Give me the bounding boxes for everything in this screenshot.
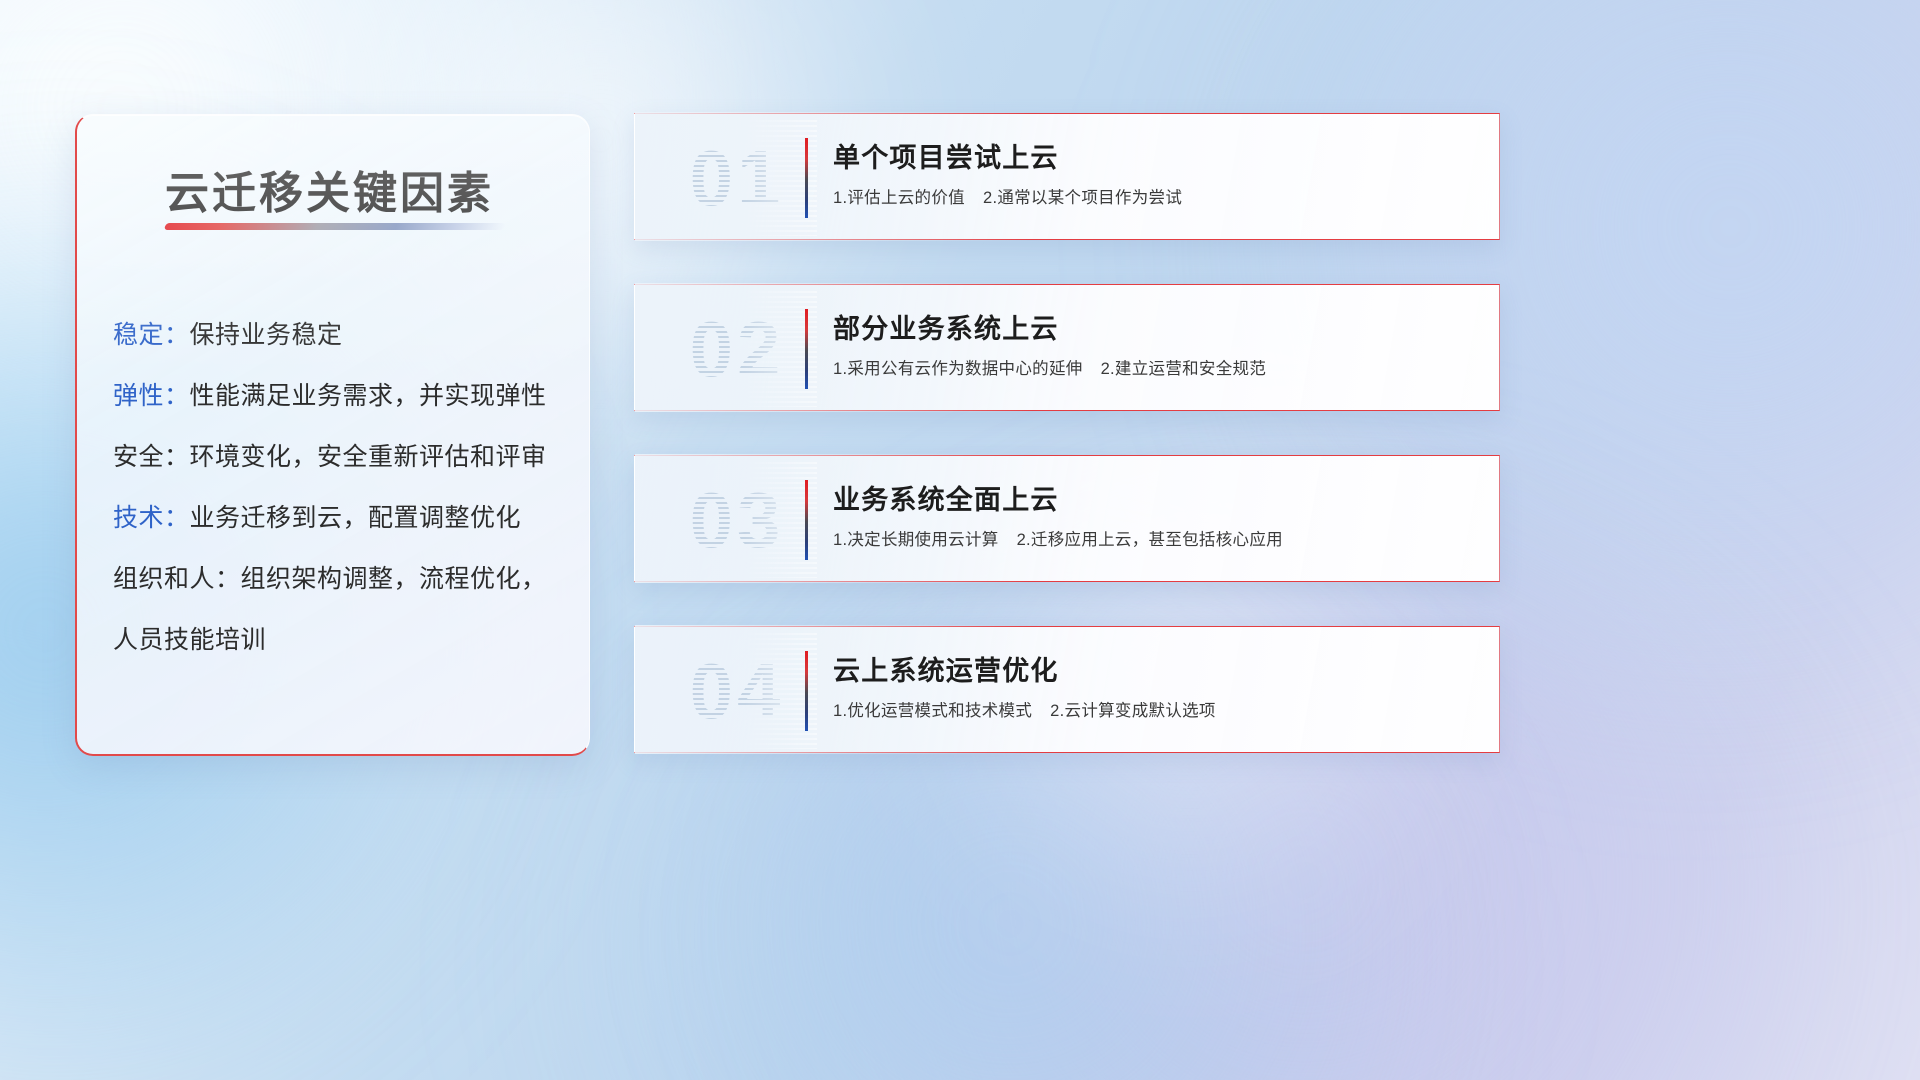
stage-number-ghost: 04 <box>657 633 817 749</box>
stage-title: 业务系统全面上云 <box>833 478 1475 517</box>
key-factors-panel: 云迁移关键因素 稳定：保持业务稳定弹性：性能满足业务需求，并实现弹性安全：环境变… <box>75 114 590 756</box>
title-underline-rule <box>164 223 506 230</box>
key-factor-text: 人员技能培训 <box>113 626 266 654</box>
key-factor-text: 保持业务稳定 <box>190 321 343 349</box>
stage-title: 部分业务系统上云 <box>833 307 1475 346</box>
stage-description: 1.决定长期使用云计算2.迁移应用上云，甚至包括核心应用 <box>833 526 1475 550</box>
key-factor-line: 组织和人：组织架构调整，流程优化， <box>113 549 563 610</box>
stage-description-part2: 2.云计算变成默认选项 <box>1050 702 1216 720</box>
stage-divider-bar <box>805 309 808 389</box>
stage-card[interactable]: 03业务系统全面上云1.决定长期使用云计算2.迁移应用上云，甚至包括核心应用 <box>634 455 1500 582</box>
cloud-migration-stages: 01单个项目尝试上云1.评估上云的价值2.通常以某个项目作为尝试02部分业务系统… <box>634 113 1500 753</box>
stage-body: 业务系统全面上云1.决定长期使用云计算2.迁移应用上云，甚至包括核心应用 <box>833 478 1475 550</box>
stage-body: 部分业务系统上云1.采用公有云作为数据中心的延伸2.建立运营和安全规范 <box>833 307 1475 379</box>
key-factor-line: 人员技能培训 <box>113 610 563 671</box>
stage-description-part1: 1.评估上云的价值 <box>833 189 965 207</box>
stage-number-ghost: 03 <box>657 462 817 578</box>
stage-card[interactable]: 01单个项目尝试上云1.评估上云的价值2.通常以某个项目作为尝试 <box>634 113 1500 240</box>
stage-divider-bar <box>805 480 808 560</box>
stage-card[interactable]: 04云上系统运营优化1.优化运营模式和技术模式2.云计算变成默认选项 <box>634 626 1500 753</box>
key-factor-line: 技术：业务迁移到云，配置调整优化 <box>113 488 563 549</box>
key-factor-label: 稳定： <box>113 321 190 349</box>
stage-title: 单个项目尝试上云 <box>833 136 1475 175</box>
slide-stage: 云迁移关键因素 稳定：保持业务稳定弹性：性能满足业务需求，并实现弹性安全：环境变… <box>0 0 1920 1080</box>
key-factor-label: 弹性： <box>113 382 190 410</box>
key-factor-text: 环境变化，安全重新评估和评审 <box>190 443 547 471</box>
key-factor-label: 安全： <box>113 443 190 471</box>
key-factor-line: 稳定：保持业务稳定 <box>113 305 563 366</box>
stage-description-part1: 1.决定长期使用云计算 <box>833 531 999 549</box>
stage-body: 云上系统运营优化1.优化运营模式和技术模式2.云计算变成默认选项 <box>833 649 1475 721</box>
key-factor-label: 技术： <box>113 504 190 532</box>
stage-divider-bar <box>805 138 808 218</box>
stage-body: 单个项目尝试上云1.评估上云的价值2.通常以某个项目作为尝试 <box>833 136 1475 208</box>
key-factor-line: 弹性：性能满足业务需求，并实现弹性 <box>113 366 563 427</box>
key-factor-text: 性能满足业务需求，并实现弹性 <box>190 382 547 410</box>
stage-description-part2: 2.建立运营和安全规范 <box>1101 360 1267 378</box>
key-factor-text: 业务迁移到云，配置调整优化 <box>190 504 522 532</box>
stage-card[interactable]: 02部分业务系统上云1.采用公有云作为数据中心的延伸2.建立运营和安全规范 <box>634 284 1500 411</box>
stage-description: 1.评估上云的价值2.通常以某个项目作为尝试 <box>833 184 1475 208</box>
stage-description-part1: 1.优化运营模式和技术模式 <box>833 702 1032 720</box>
key-factor-line: 安全：环境变化，安全重新评估和评审 <box>113 427 563 488</box>
key-factor-text: 组织架构调整，流程优化， <box>241 565 547 593</box>
key-factors-list: 稳定：保持业务稳定弹性：性能满足业务需求，并实现弹性安全：环境变化，安全重新评估… <box>113 305 563 671</box>
panel-title: 云迁移关键因素 <box>165 157 494 221</box>
stage-number-ghost: 01 <box>657 120 817 236</box>
stage-description-part2: 2.迁移应用上云，甚至包括核心应用 <box>1017 531 1283 549</box>
stage-description: 1.优化运营模式和技术模式2.云计算变成默认选项 <box>833 697 1475 721</box>
stage-divider-bar <box>805 651 808 731</box>
stage-title: 云上系统运营优化 <box>833 649 1475 688</box>
stage-number-ghost: 02 <box>657 291 817 407</box>
key-factor-label: 组织和人： <box>113 565 241 593</box>
stage-description-part2: 2.通常以某个项目作为尝试 <box>983 189 1182 207</box>
stage-description: 1.采用公有云作为数据中心的延伸2.建立运营和安全规范 <box>833 355 1475 379</box>
stage-description-part1: 1.采用公有云作为数据中心的延伸 <box>833 360 1083 378</box>
